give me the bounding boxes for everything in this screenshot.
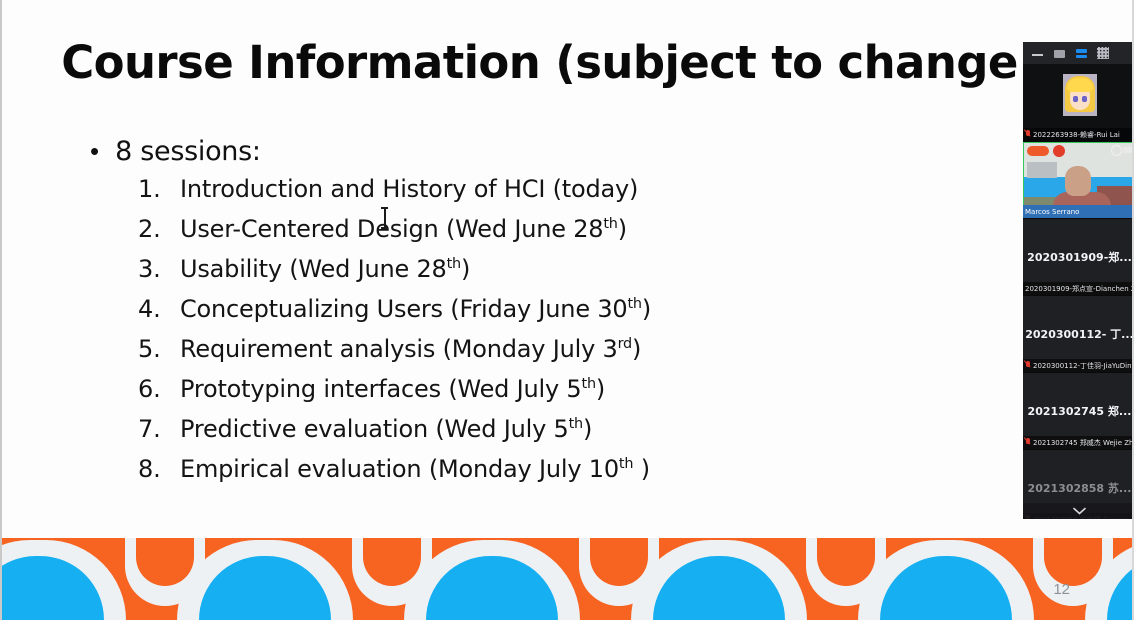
list-item-label: User-Centered Design (Wed June 28th): [180, 215, 627, 243]
list-item: 2.User-Centered Design (Wed June 28th): [138, 215, 970, 255]
video-panel-toolbar: [1023, 42, 1134, 64]
single-view-icon[interactable]: [1053, 47, 1066, 59]
mic-muted-icon: [1025, 361, 1031, 370]
participant-name-bar: 2020301909-郑点宣-Dianchen Z: [1023, 282, 1134, 295]
participant-name: 2022263938-赖睿-Rui Lai: [1033, 130, 1120, 140]
participant-initials: 2020301909-郑...: [1027, 249, 1132, 265]
sponsor-logo-icon: [1027, 146, 1049, 156]
page-title: Course Information (subject to change !): [2, 36, 1132, 89]
minimize-icon[interactable]: [1031, 47, 1044, 59]
sidebar-view-icon[interactable]: [1075, 47, 1088, 59]
list-item: 6.Prototyping interfaces (Wed July 5th): [138, 375, 970, 415]
list-item-number: 6.: [138, 375, 180, 403]
bullet-marker-icon: •: [90, 138, 99, 164]
chevron-down-icon[interactable]: [1023, 503, 1134, 519]
participant-name: 2020301909-郑点宣-Dianchen Z: [1025, 284, 1134, 294]
list-item-number: 5.: [138, 335, 180, 363]
list-item-label: Predictive evaluation (Wed July 5th): [180, 415, 592, 443]
list-item-number: 4.: [138, 295, 180, 323]
participant-tile[interactable]: Marcos Serrano: [1023, 141, 1134, 218]
participant-name-bar: 2021302745 郑威杰 Wejie Zh: [1023, 436, 1134, 449]
list-item-label: Empirical evaluation (Monday July 10th ): [180, 455, 650, 483]
list-item: 7.Predictive evaluation (Wed July 5th): [138, 415, 970, 455]
ordinal-suffix: rd: [618, 336, 632, 352]
bullet-heading: • 8 sessions:: [90, 136, 970, 167]
list-item: 5.Requirement analysis (Monday July 3rd): [138, 335, 970, 375]
participant-initials: 2021302858 苏...: [1028, 480, 1132, 496]
avatar: [1063, 74, 1097, 116]
list-item-label: Conceptualizing Users (Friday June 30th): [180, 295, 651, 323]
list-item-number: 2.: [138, 215, 180, 243]
list-item-number: 8.: [138, 455, 180, 483]
participant-tile[interactable]: 2021302745 郑... 2021302745 郑威杰 Wejie Zh: [1023, 372, 1134, 449]
arch-unit: [2, 538, 177, 620]
participant-name-bar: Marcos Serrano: [1023, 205, 1134, 218]
list-item-number: 3.: [138, 255, 180, 283]
arch-unit: [858, 538, 1085, 620]
ordinal-suffix: th: [582, 376, 596, 392]
arch-unit: [404, 538, 631, 620]
list-item: 4.Conceptualizing Users (Friday June 30t…: [138, 295, 970, 335]
arch-unit: [1085, 538, 1132, 620]
list-item-label: Usability (Wed June 28th): [180, 255, 470, 283]
ordinal-suffix: th: [569, 416, 583, 432]
participant-name-bar: 2020300112-丁佳羽-JiaYuDin: [1023, 359, 1134, 372]
list-item-label: Prototyping interfaces (Wed July 5th): [180, 375, 605, 403]
grid-view-icon[interactable]: [1097, 47, 1109, 59]
participant-tile[interactable]: 2020300112- 丁... 2020300112-丁佳羽-JiaYuDin: [1023, 295, 1134, 372]
sponsor-logo-icon: [1053, 145, 1065, 157]
ordinal-suffix: th: [627, 296, 641, 312]
participant-tile[interactable]: 2022263938-赖睿-Rui Lai: [1023, 64, 1134, 141]
participant-name-bar: 2022263938-赖睿-Rui Lai: [1023, 128, 1134, 141]
arch-unit: [177, 538, 404, 620]
list-item: 1.Introduction and History of HCI (today…: [138, 175, 970, 215]
ordinal-suffix: th: [447, 256, 461, 272]
participant-initials: 2020300112- 丁...: [1025, 326, 1133, 342]
slide-number: 12: [1053, 581, 1070, 598]
list-item-number: 1.: [138, 175, 180, 203]
university-logo-icon: [1111, 145, 1122, 156]
participant-initials: 2021302745 郑...: [1028, 403, 1132, 419]
mic-muted-icon: [1025, 130, 1031, 139]
slide-body: • 8 sessions: 1.Introduction and History…: [90, 136, 970, 495]
bullet-heading-label: 8 sessions:: [115, 136, 261, 167]
list-item-label: Introduction and History of HCI (today): [180, 175, 638, 203]
participant-tile[interactable]: 2020301909-郑... 2020301909-郑点宣-Dianchen …: [1023, 218, 1134, 295]
list-item-number: 7.: [138, 415, 180, 443]
arch-unit: [631, 538, 858, 620]
arch-pattern: [2, 538, 1132, 620]
mic-muted-icon: [1025, 438, 1031, 447]
participant-name: 2020300112-丁佳羽-JiaYuDin: [1033, 361, 1132, 371]
participant-name: Marcos Serrano: [1025, 208, 1079, 216]
participant-name: 2021302745 郑威杰 Wejie Zh: [1033, 438, 1133, 448]
session-list: 1.Introduction and History of HCI (today…: [138, 175, 970, 495]
video-conference-panel: 2022263938-赖睿-Rui Lai Marcos Serrano: [1023, 42, 1134, 519]
list-item: 8.Empirical evaluation (Monday July 10th…: [138, 455, 970, 495]
slide-footer-decoration: 12: [2, 538, 1132, 620]
list-item-label: Requirement analysis (Monday July 3rd): [180, 335, 641, 363]
ordinal-suffix: th: [603, 216, 617, 232]
list-item: 3.Usability (Wed June 28th): [138, 255, 970, 295]
ordinal-suffix: th: [619, 456, 633, 472]
presentation-stage: Course Information (subject to change !)…: [0, 0, 1134, 620]
